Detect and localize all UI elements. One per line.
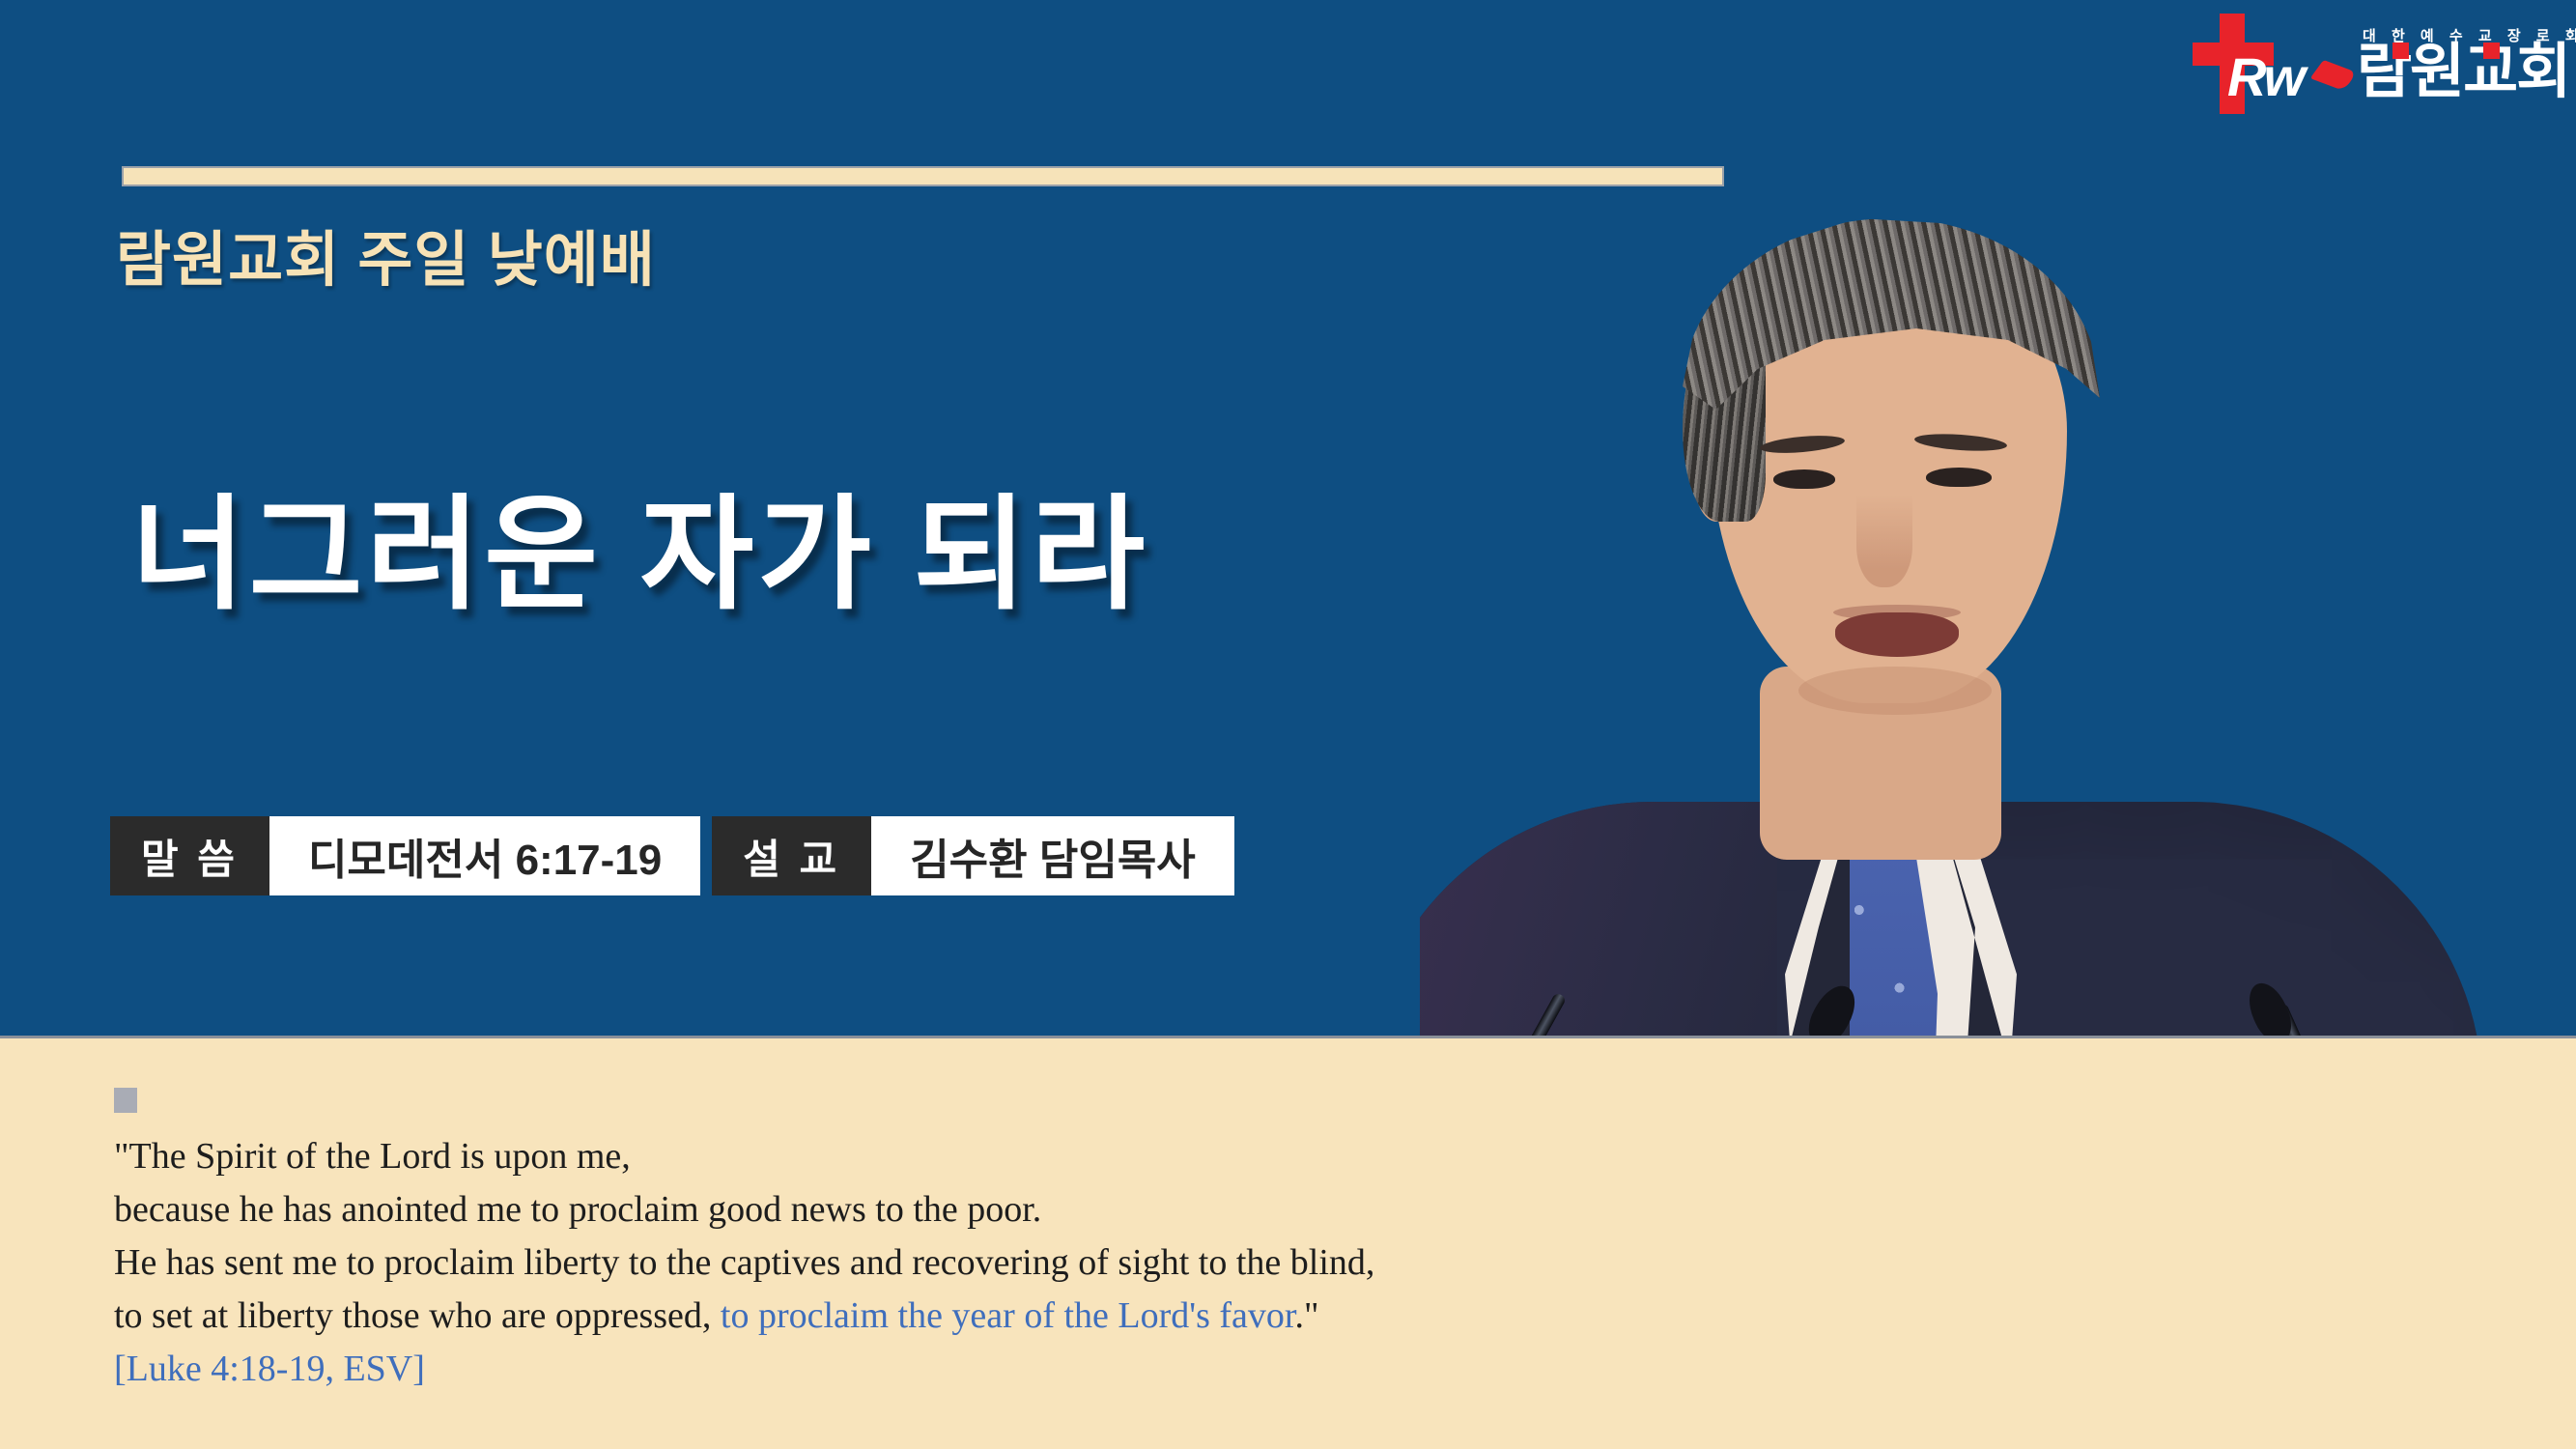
- eye-right: [1926, 468, 1992, 487]
- swoosh-icon: [2310, 60, 2358, 91]
- preacher-name-value: 김수환 담임목사: [871, 816, 1234, 895]
- logo-accent-dot-right: [2483, 43, 2500, 59]
- logo-church-name: 람원교회: [2357, 43, 2569, 102]
- scripture-highlight: to proclaim the year of the Lord's favor: [721, 1295, 1295, 1336]
- scripture-reference-value: 디모데전서 6:17-19: [269, 816, 700, 895]
- chin: [1798, 667, 1992, 715]
- gold-divider-rule: [122, 166, 1724, 186]
- service-label: 람원교회 주일 낮예배: [116, 211, 656, 298]
- scripture-line-2: because he has anointed me to proclaim g…: [114, 1183, 1563, 1236]
- scripture-key-badge: 말 씀: [110, 816, 269, 895]
- scripture-text-block: "The Spirit of the Lord is upon me, beca…: [114, 1088, 1563, 1396]
- church-logo: Rw 대 한 예 수 교 장 로 회 람원교회: [2177, 8, 2563, 114]
- preacher-key-badge: 설 교: [712, 816, 871, 895]
- scripture-line-4: to set at liberty those who are oppresse…: [114, 1290, 1563, 1343]
- logo-monogram: Rw: [2227, 50, 2303, 104]
- scripture-line-4-suffix: .": [1294, 1295, 1318, 1336]
- sermon-meta-row: 말 씀 디모데전서 6:17-19 설 교 김수환 담임목사: [110, 816, 1234, 895]
- sermon-slide: 람원교회 주일 낮예배 너그러운 자가 되라 말 씀 디모데전서 6:17-19…: [0, 0, 2576, 1449]
- mouth: [1835, 612, 1959, 657]
- scripture-line-1: "The Spirit of the Lord is upon me,: [114, 1130, 1563, 1183]
- eye-left: [1773, 469, 1835, 489]
- scripture-citation: [Luke 4:18-19, ESV]: [114, 1343, 1563, 1396]
- scripture-line-3: He has sent me to proclaim liberty to th…: [114, 1236, 1563, 1290]
- sermon-title: 너그러운 자가 되라: [131, 454, 1148, 633]
- logo-accent-dot-left: [2392, 43, 2409, 59]
- square-bullet-icon: [114, 1088, 137, 1113]
- nose: [1856, 495, 1912, 587]
- scripture-line-4-prefix: to set at liberty those who are oppresse…: [114, 1295, 721, 1336]
- meta-spacer: [700, 816, 712, 895]
